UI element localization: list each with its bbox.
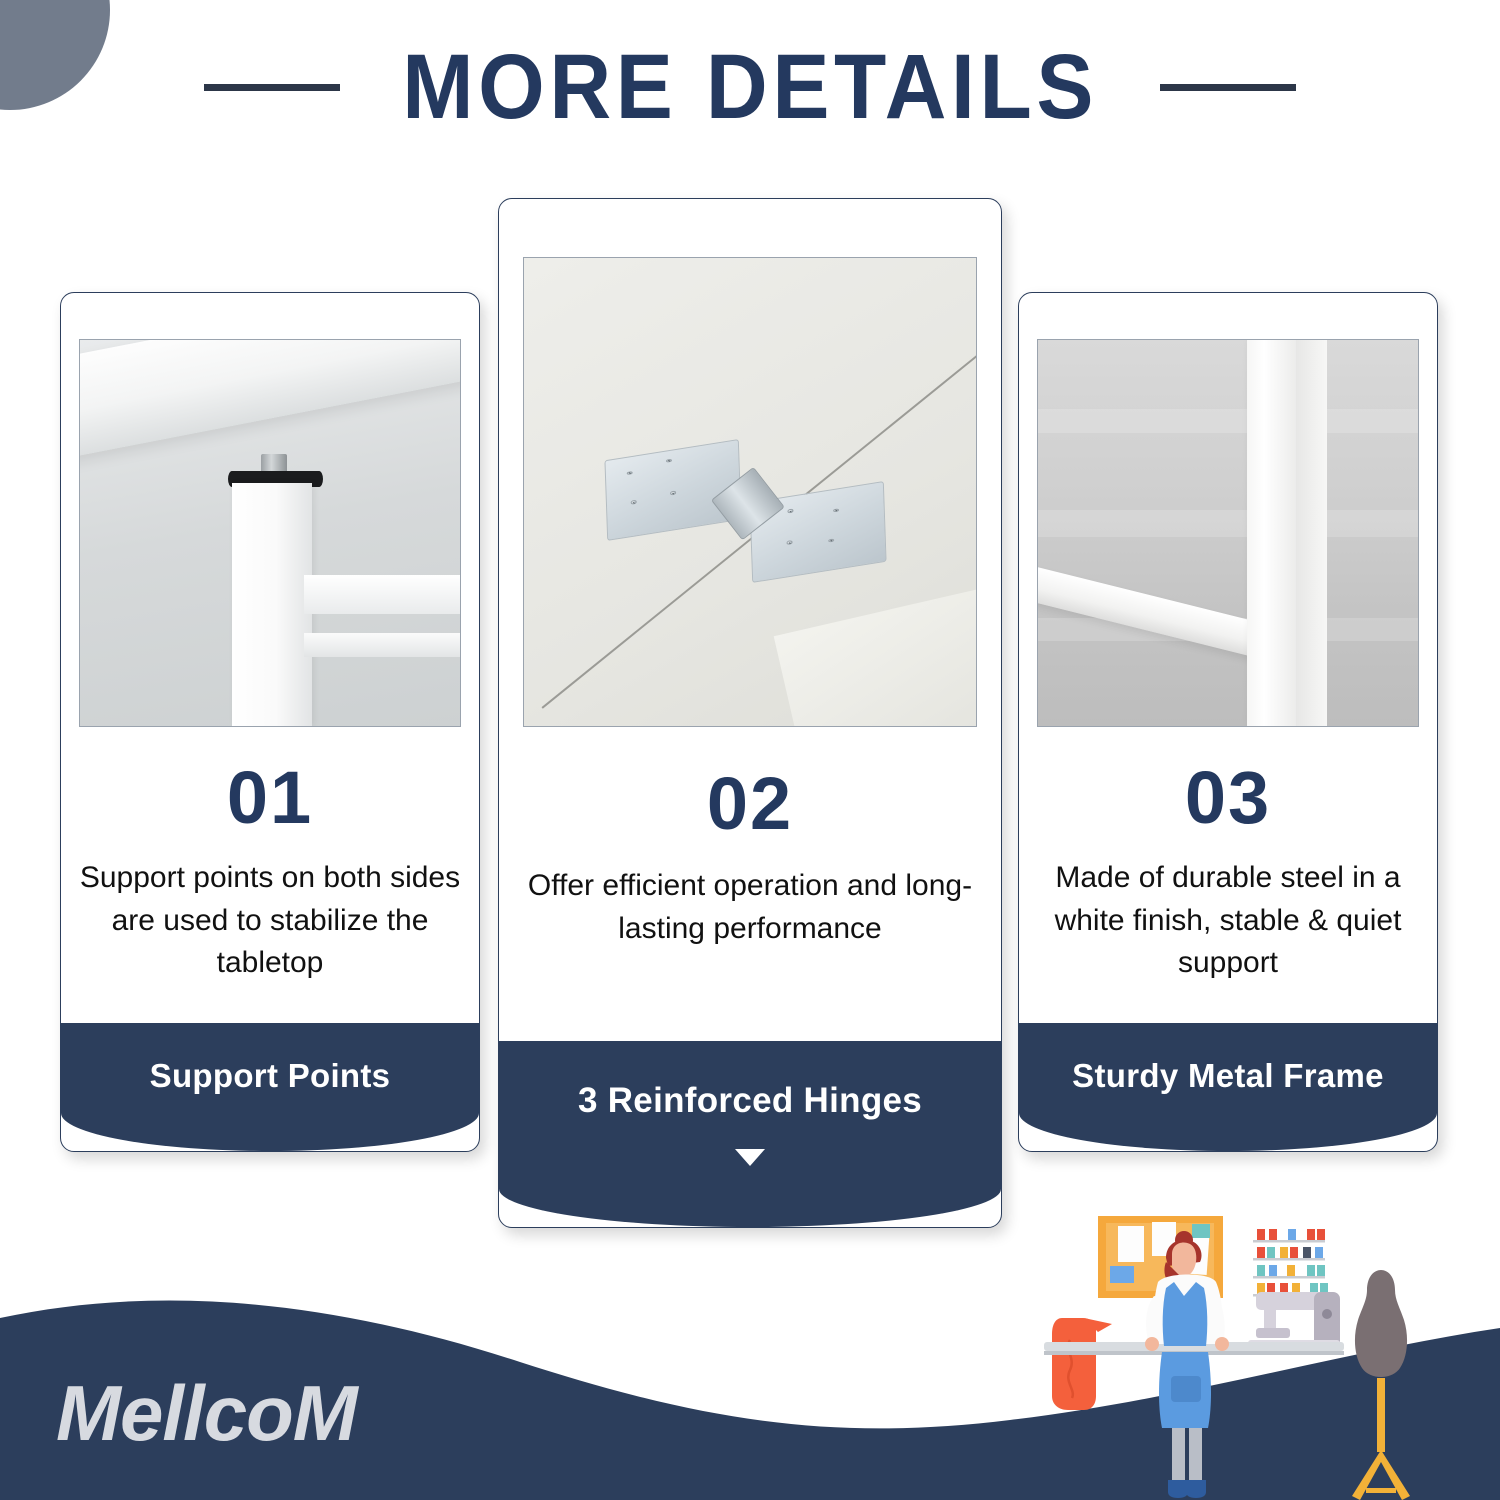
card-footer-band: Support Points	[61, 1023, 479, 1151]
sewing-machine-icon	[1248, 1292, 1340, 1350]
hinge-screw-icon	[833, 508, 839, 512]
header-dash-right-icon	[1160, 84, 1296, 91]
card-spacer	[61, 985, 479, 1023]
card-number: 03	[1019, 761, 1437, 835]
header-dash-left-icon	[204, 84, 340, 91]
thread-spool-rack-icon	[1253, 1229, 1328, 1297]
feature-card-02[interactable]: 02 Offer efficient operation and long-la…	[498, 198, 1002, 1228]
feature-card-list: 01 Support points on both sides are used…	[0, 0, 1500, 1260]
card-description: Support points on both sides are used to…	[61, 835, 479, 985]
vertical-post-secondary-shape	[1296, 340, 1326, 726]
hinge-screw-icon	[786, 541, 792, 545]
hinge-screw-icon	[788, 509, 794, 513]
hinge-screw-icon	[631, 500, 637, 504]
reinforced-hinge-photo	[523, 257, 977, 727]
white-metal-frame-photo	[1037, 339, 1419, 727]
hinge-screw-icon	[627, 471, 633, 475]
card-number: 01	[61, 761, 479, 835]
dress-form-icon	[1352, 1270, 1410, 1500]
card-footer-band: 3 Reinforced Hinges	[499, 1041, 1001, 1227]
chevron-down-icon	[735, 1149, 765, 1166]
hinge-screw-icon	[667, 458, 673, 462]
card-footer-label: Support Points	[150, 1057, 391, 1095]
frame-rail-shape	[304, 575, 461, 614]
brand-logo: MellcoM	[56, 1374, 357, 1452]
card-spacer	[499, 950, 1001, 1041]
card-footer-label: 3 Reinforced Hinges	[578, 1081, 922, 1121]
floor-line-shape	[1038, 409, 1418, 432]
card-description: Offer efficient operation and long-lasti…	[499, 841, 1001, 950]
frame-rail-lower-shape	[304, 633, 461, 656]
feature-card-03[interactable]: 03 Made of durable steel in a white fini…	[1018, 292, 1438, 1152]
card-number: 02	[499, 767, 1001, 841]
white-table-leg-shape	[232, 483, 312, 726]
hinge-screw-icon	[829, 539, 835, 543]
card-footer-label: Sturdy Metal Frame	[1072, 1057, 1384, 1095]
card-spacer	[1019, 985, 1437, 1023]
card-description: Made of durable steel in a white finish,…	[1019, 835, 1437, 985]
tabletop-slab-shape	[79, 339, 461, 459]
page-title: MORE DETAILS	[402, 41, 1098, 133]
table-leg-support-point-photo	[79, 339, 461, 727]
hinge-screw-icon	[671, 491, 677, 495]
panel-edge-shape	[774, 576, 977, 727]
red-fabric-icon	[1052, 1318, 1112, 1410]
seamstress-sewing-workshop-illustration	[1026, 1200, 1496, 1500]
page-header: MORE DETAILS	[0, 32, 1500, 142]
hinge-plate-left-shape	[605, 439, 742, 540]
vertical-post-shape	[1247, 340, 1296, 726]
feature-card-01[interactable]: 01 Support points on both sides are used…	[60, 292, 480, 1152]
floor-line-shape	[1038, 510, 1418, 537]
diagonal-brace-shape	[1037, 564, 1270, 658]
card-footer-band: Sturdy Metal Frame	[1019, 1023, 1437, 1151]
